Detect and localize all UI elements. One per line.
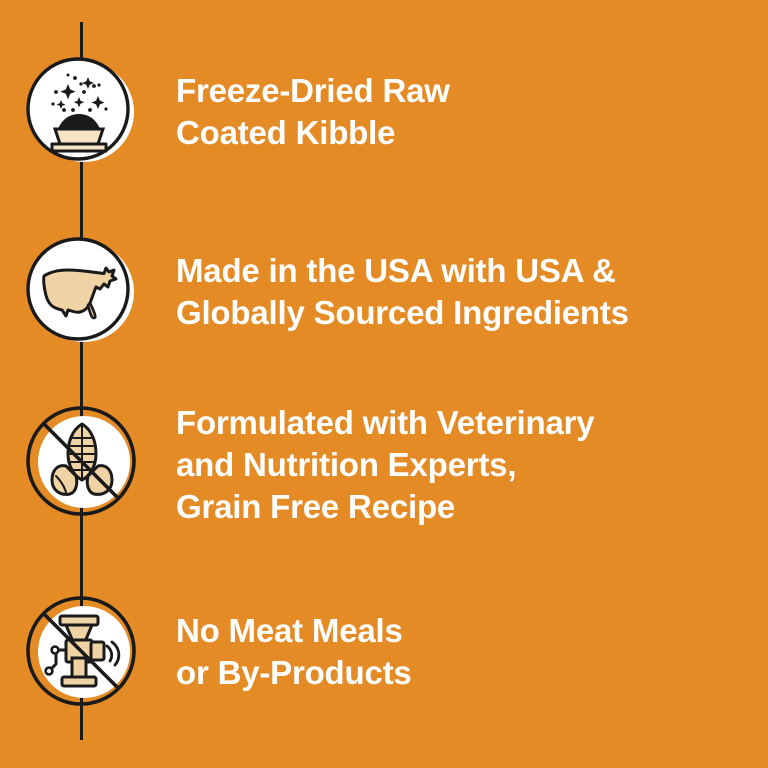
feature-label: No Meat Meals or By-Products [176,592,412,694]
feature-label: Made in the USA with USA & Globally Sour… [176,232,629,334]
feature-label: Freeze-Dried Raw Coated Kibble [176,52,450,154]
feature-row: Made in the USA with USA & Globally Sour… [0,232,768,350]
feature-row: Freeze-Dried Raw Coated Kibble [0,52,768,170]
feature-row: Formulated with Veterinary and Nutrition… [0,402,768,528]
no-grain-corn-icon [22,402,140,520]
feature-row: No Meat Meals or By-Products [0,592,768,710]
no-meat-grinder-icon [22,592,140,710]
usa-map-icon [22,232,140,350]
freeze-dried-kibble-bowl-icon [22,52,140,170]
feature-list-infographic: Freeze-Dried Raw Coated Kibble Made in t… [0,0,768,768]
feature-label: Formulated with Veterinary and Nutrition… [176,402,594,528]
